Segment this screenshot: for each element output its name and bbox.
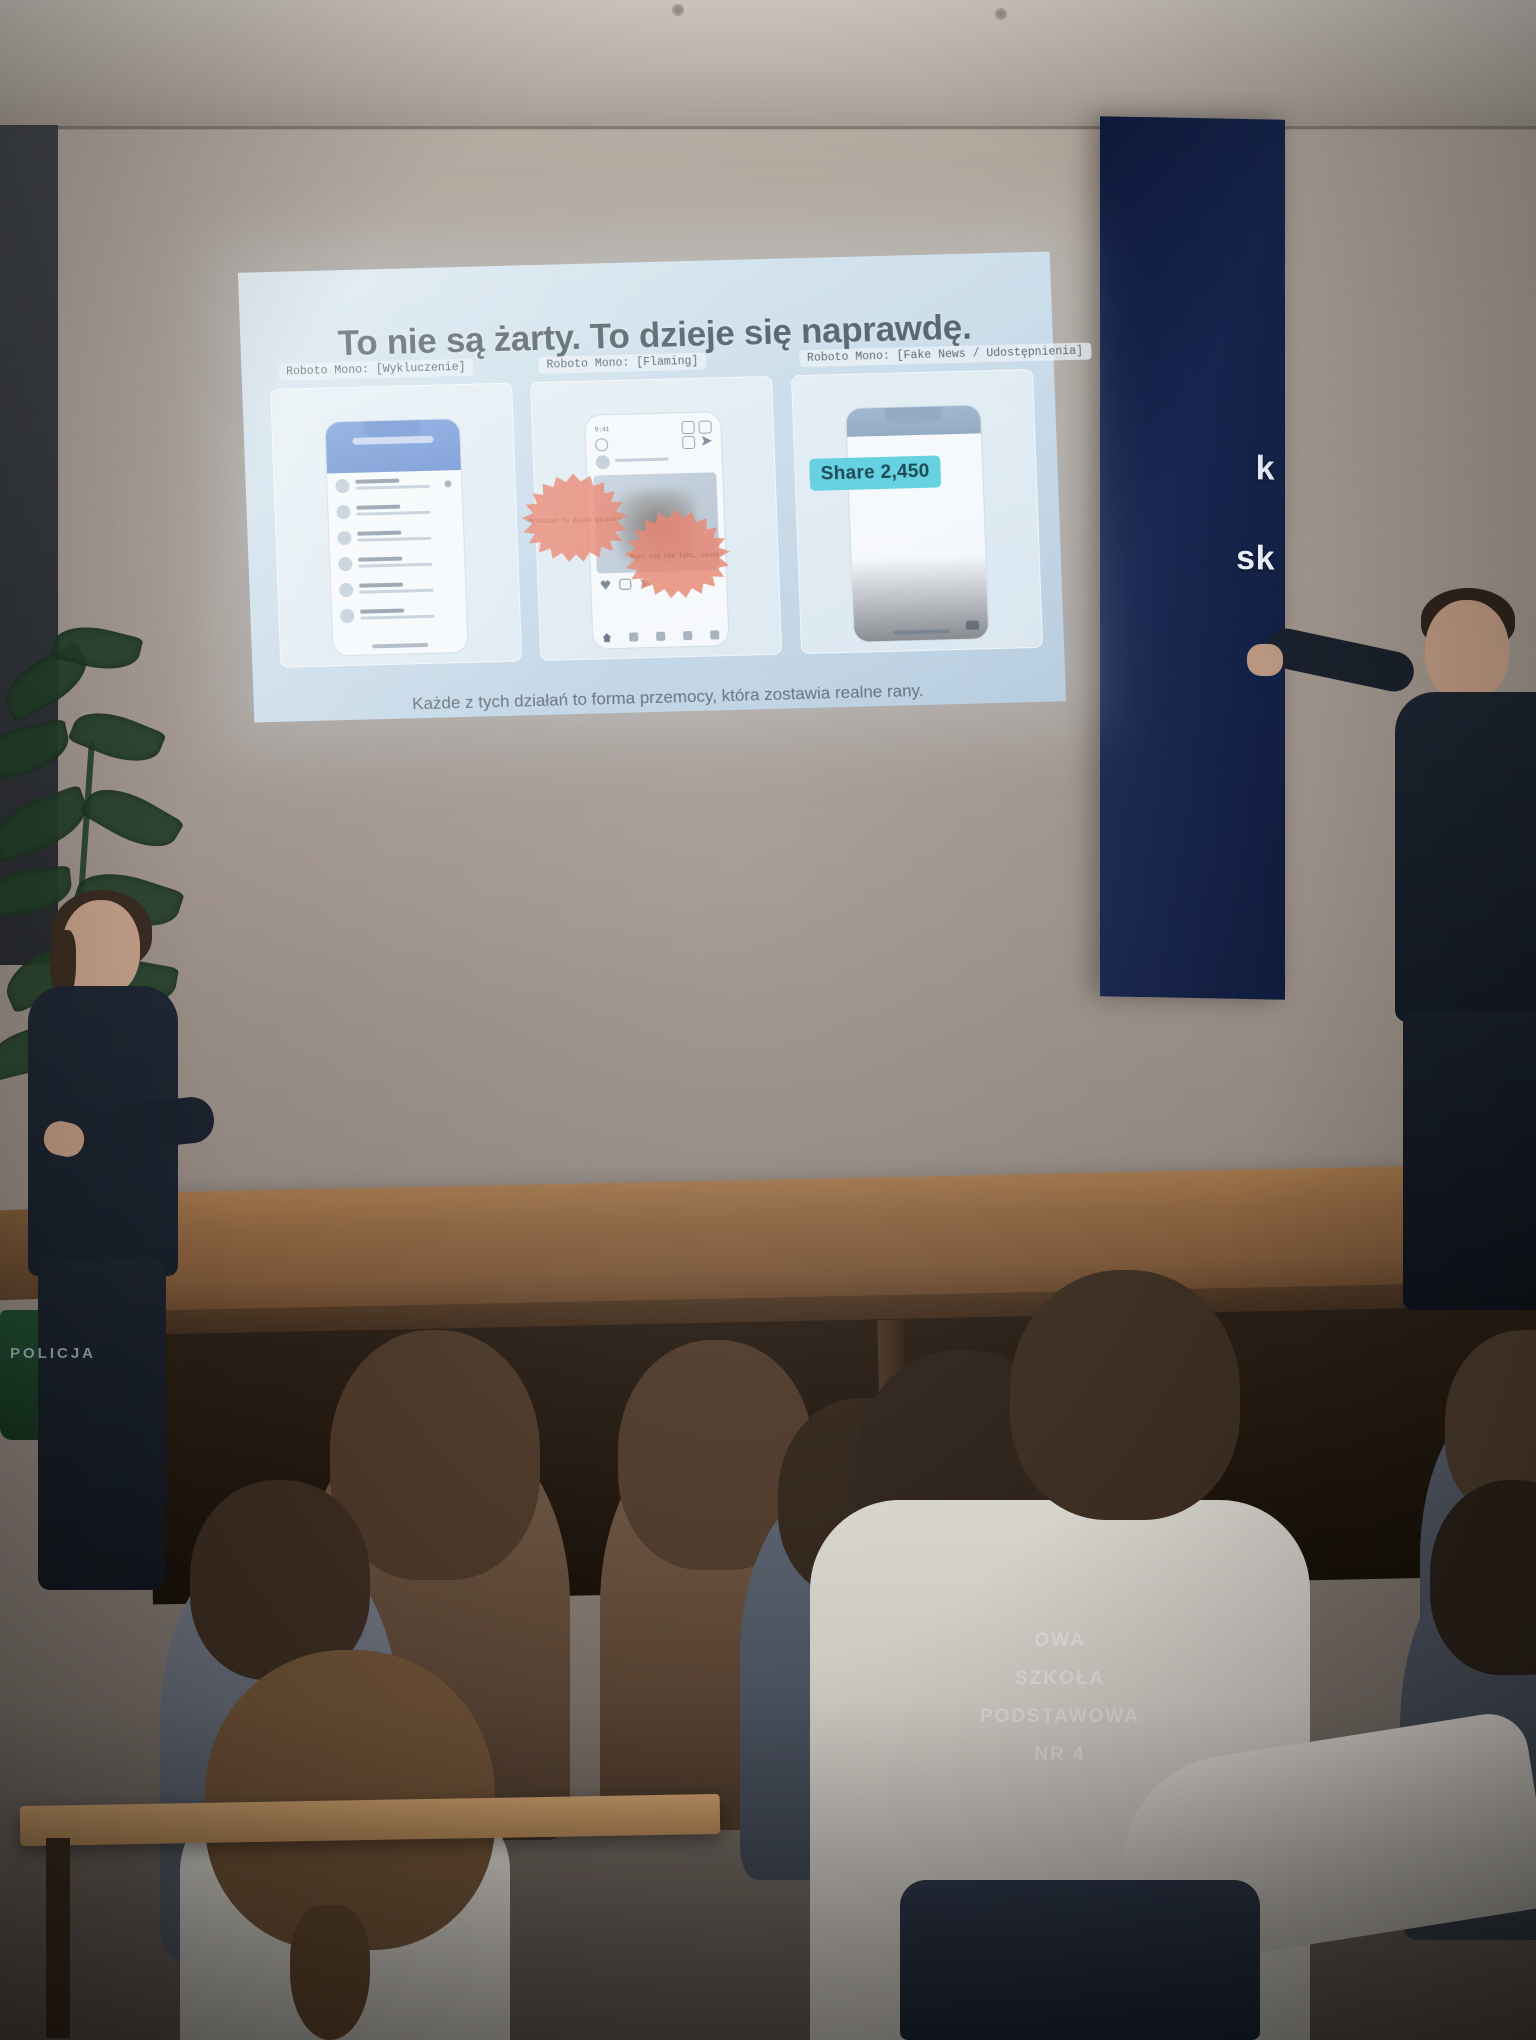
share-icon[interactable] <box>640 579 650 589</box>
post-image <box>594 473 720 574</box>
search-icon[interactable] <box>629 632 638 641</box>
student-head <box>1010 1270 1240 1520</box>
desk-leg <box>46 1838 70 2038</box>
messenger-icon <box>682 436 695 449</box>
ponytail <box>290 1905 370 2040</box>
uniform-back-text: POLICJA <box>10 1345 96 1362</box>
status-time: 9:41 <box>595 426 610 433</box>
burst-comment-2: Nikt cię nie lubi, spadaj <box>622 508 731 605</box>
card-fakenews: Roboto Mono: [Fake News / Udostępnienia]… <box>791 369 1043 654</box>
chat-row <box>332 600 467 630</box>
avatar <box>340 609 355 623</box>
chat-row <box>327 470 462 500</box>
uniform-jacket <box>1395 692 1536 1022</box>
phone-mockup-groupchat <box>324 418 469 656</box>
chat-row <box>328 496 463 526</box>
avatar <box>337 531 352 545</box>
home-icon[interactable] <box>602 633 611 642</box>
police-officer-male <box>1395 600 1536 1300</box>
camera-icon <box>595 438 608 451</box>
video-overlay <box>851 554 989 641</box>
avatar <box>336 505 351 519</box>
hoodie-text-line-3: PODSTAWOWA <box>810 1706 1310 1728</box>
head <box>1425 600 1509 700</box>
banner-line-1: k <box>1256 449 1275 488</box>
reels-icon[interactable] <box>656 632 665 641</box>
app-bar <box>586 435 721 454</box>
uniform-trousers <box>1403 1010 1536 1310</box>
post-actions <box>591 570 726 597</box>
classroom-photo: k sk To nie są żarty. To dzieje się napr… <box>0 0 1536 2040</box>
avatar <box>596 455 611 469</box>
like-icon[interactable] <box>600 580 610 590</box>
chat-row <box>330 548 465 578</box>
hoodie-text-line-2: SZKOŁA <box>810 1668 1310 1690</box>
phone-mockup-instagram: 9:41 <box>584 411 729 649</box>
ceiling-fixture-icon <box>672 4 684 16</box>
phone-header <box>846 406 981 437</box>
phone-mockup-video <box>845 405 990 643</box>
send-icon <box>702 436 712 446</box>
post-author-row <box>587 450 722 476</box>
phone-notch <box>364 420 421 437</box>
card-flaming: Roboto Mono: [Flaming] 9:41 <box>530 376 782 661</box>
home-indicator <box>893 629 950 634</box>
card-tag-label: Roboto Mono: [Flaming] <box>538 353 706 374</box>
ceiling-trim <box>0 126 1536 129</box>
uniform-trousers <box>38 1260 166 1590</box>
home-indicator <box>372 643 429 648</box>
avatar <box>339 583 354 597</box>
chat-title-bar <box>352 435 433 444</box>
blurred-face <box>617 490 696 564</box>
bottom-nav[interactable] <box>593 626 728 647</box>
avatar <box>338 557 353 571</box>
play-icon[interactable] <box>911 528 925 546</box>
phone-notch <box>885 407 942 424</box>
hoodie-text-line-1: OWA <box>810 1630 1310 1652</box>
phone-header <box>325 419 461 474</box>
arm <box>114 1095 216 1151</box>
profile-icon[interactable] <box>710 630 719 639</box>
pointing-hand <box>1247 644 1283 676</box>
youtube-icon <box>966 620 979 629</box>
projected-slide: To nie są żarty. To dzieje się naprawdę.… <box>238 252 1066 723</box>
ceiling <box>0 0 1536 130</box>
signal-icon <box>681 421 694 434</box>
shop-icon[interactable] <box>683 631 692 640</box>
event-banner: k sk <box>1100 116 1285 1000</box>
chat-row <box>329 522 464 552</box>
chat-row <box>331 574 466 604</box>
slide-cards: Roboto Mono: [Wykluczenie] <box>270 369 1043 668</box>
share-count-badge: Share 2,450 <box>809 456 941 491</box>
more-options-icon <box>445 480 452 487</box>
ceiling-fixture-icon <box>995 8 1007 20</box>
card-tag-label: Roboto Mono: [Fake News / Udostępnienia] <box>799 342 1092 367</box>
card-tag-label: Roboto Mono: [Wykluczenie] <box>278 359 474 381</box>
burst-comment-1: Przestań tu pisać głupoty <box>520 472 629 569</box>
card-wykluczenie: Roboto Mono: [Wykluczenie] <box>270 383 522 668</box>
status-bar: 9:41 <box>585 412 720 439</box>
avatar <box>335 479 350 493</box>
wifi-icon <box>698 421 711 434</box>
chair <box>900 1880 1260 2040</box>
police-officer-female: POLICJA <box>20 900 220 1640</box>
banner-line-2: sk <box>1236 539 1275 579</box>
slide-title: To nie są żarty. To dzieje się naprawdę. <box>289 306 1021 365</box>
comment-icon[interactable] <box>619 579 631 590</box>
